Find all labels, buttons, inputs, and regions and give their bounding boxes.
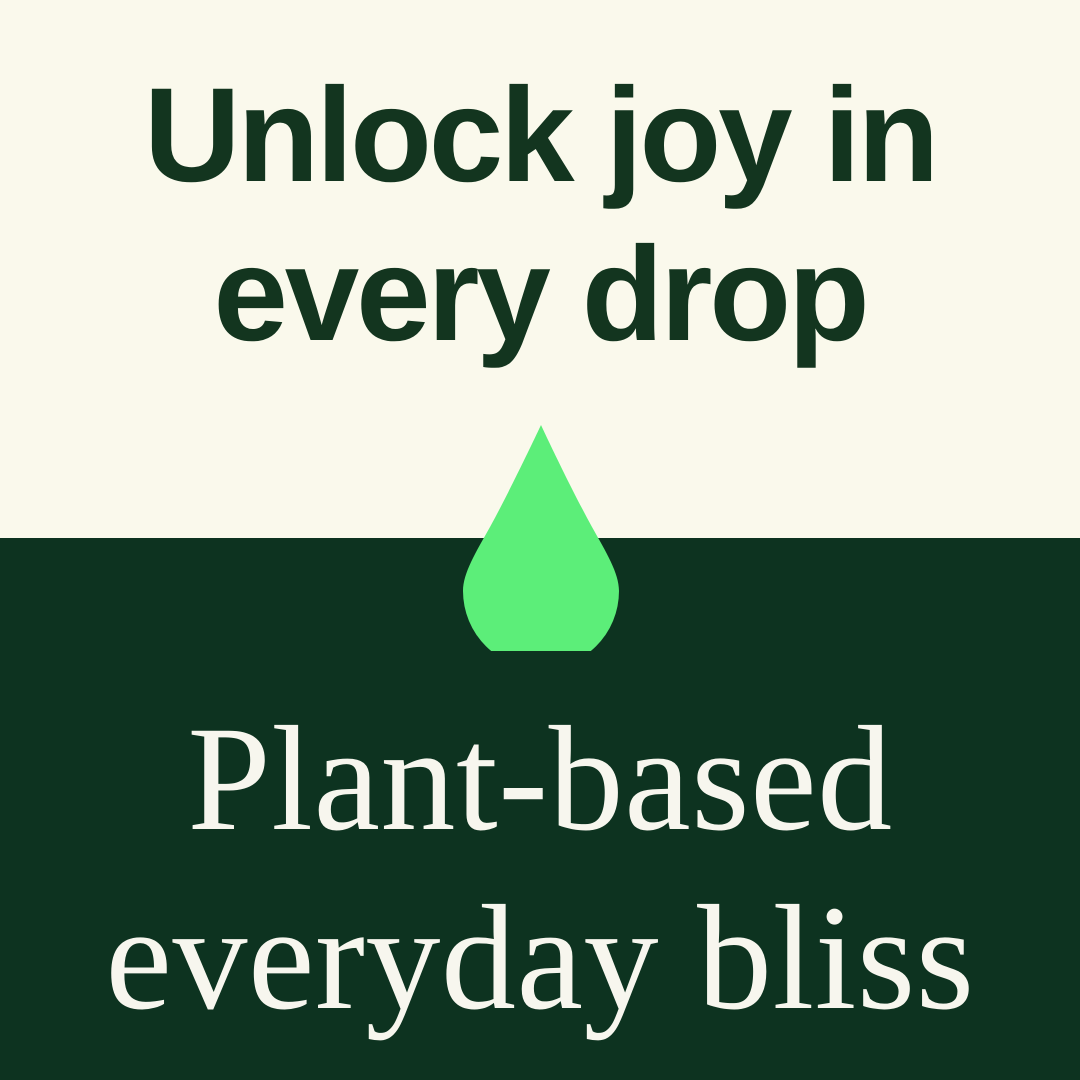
subheadline: Plant-based everyday bliss [0, 690, 1080, 1048]
headline: Unlock joy in every drop [0, 0, 1080, 374]
headline-line-2: every drop [0, 215, 1080, 374]
headline-line-1: Unlock joy in [0, 56, 1080, 215]
subheadline-line-1: Plant-based [0, 690, 1080, 869]
poster-canvas: Unlock joy in every drop Plant-based eve… [0, 0, 1080, 1080]
subheadline-line-2: everyday bliss [0, 869, 1080, 1048]
water-droplet-icon [461, 423, 621, 651]
droplet-shape [463, 425, 619, 651]
